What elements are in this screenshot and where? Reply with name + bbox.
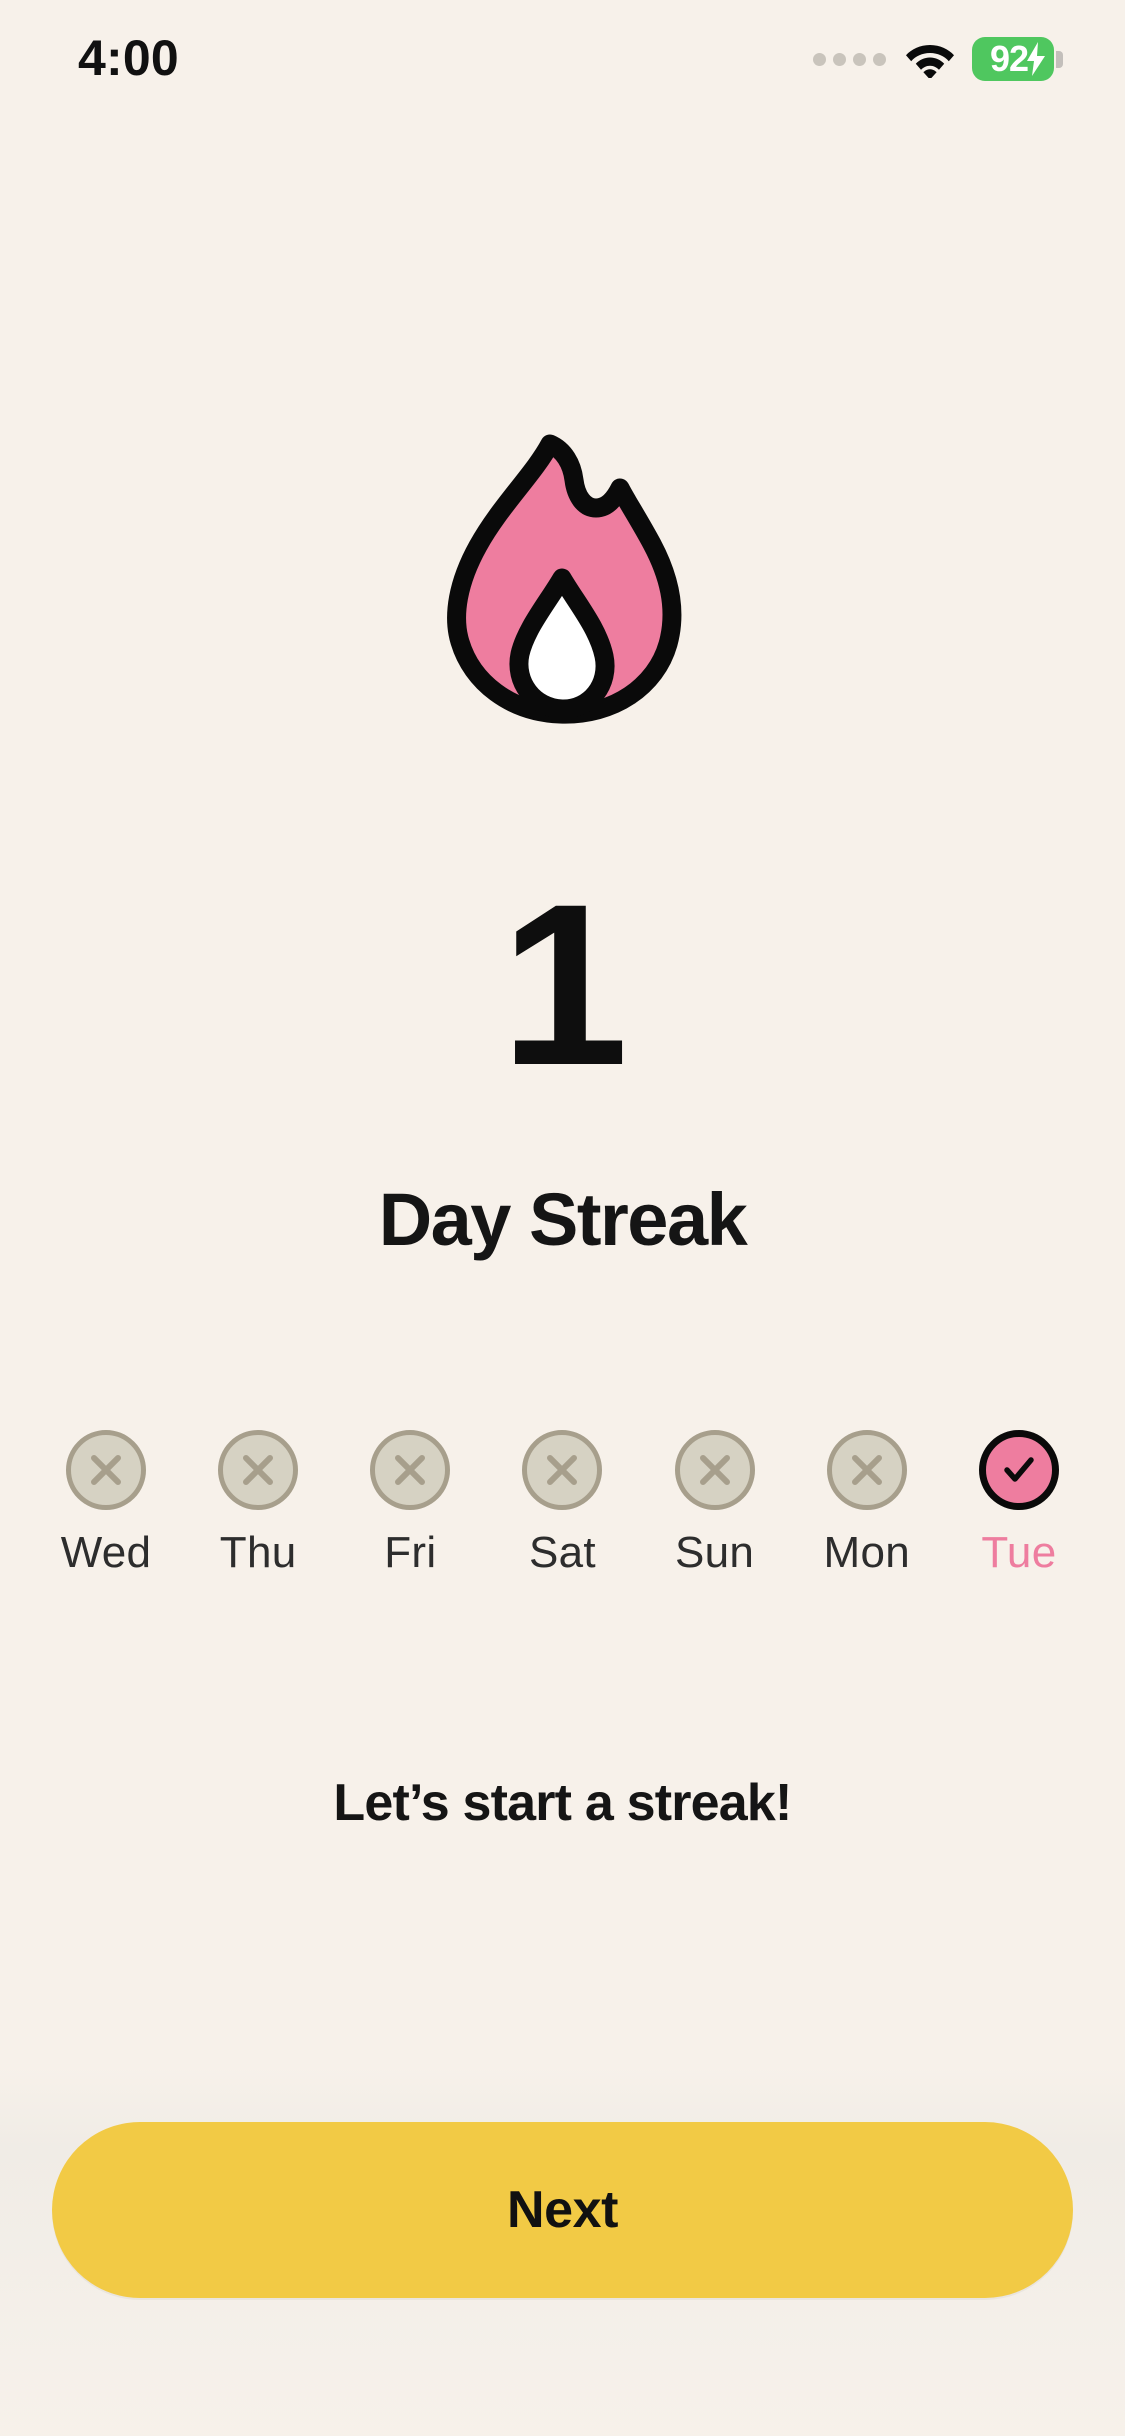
status-bar-indicators: 92	[813, 37, 1063, 81]
x-icon	[239, 1451, 277, 1489]
app-screen: 4:00 92	[0, 0, 1125, 2436]
battery-charging-icon: 92	[972, 37, 1063, 81]
streak-label: Day Streak	[0, 1183, 1125, 1257]
flame-illustration	[0, 430, 1125, 730]
charging-bolt-icon	[1025, 42, 1047, 76]
x-icon	[696, 1451, 734, 1489]
day-status-circle-fri[interactable]	[370, 1430, 450, 1510]
x-icon	[543, 1451, 581, 1489]
streak-message: Let’s start a streak!	[0, 1770, 1125, 1838]
day-cell-fri[interactable]: Fri	[356, 1430, 464, 1575]
status-bar-time: 4:00	[78, 33, 179, 83]
day-cell-thu[interactable]: Thu	[204, 1430, 312, 1575]
week-streak-row: Wed Thu Fri Sat	[52, 1430, 1073, 1575]
x-icon	[87, 1451, 125, 1489]
wifi-icon	[905, 40, 955, 78]
day-status-circle-sat[interactable]	[522, 1430, 602, 1510]
day-status-circle-sun[interactable]	[675, 1430, 755, 1510]
x-icon	[848, 1451, 886, 1489]
day-status-circle-mon[interactable]	[827, 1430, 907, 1510]
day-status-circle-tue[interactable]	[979, 1430, 1059, 1510]
day-cell-sat[interactable]: Sat	[508, 1430, 616, 1575]
flame-icon	[438, 430, 688, 730]
day-cell-tue[interactable]: Tue	[965, 1430, 1073, 1575]
day-label-tue: Tue	[981, 1531, 1056, 1575]
battery-percent-label: 92	[990, 41, 1028, 77]
day-cell-mon[interactable]: Mon	[813, 1430, 921, 1575]
x-icon	[391, 1451, 429, 1489]
day-label-sat: Sat	[529, 1531, 596, 1575]
streak-count: 1	[0, 870, 1125, 1100]
day-label-mon: Mon	[824, 1531, 911, 1575]
day-cell-sun[interactable]: Sun	[661, 1430, 769, 1575]
day-label-thu: Thu	[220, 1531, 297, 1575]
status-bar: 4:00 92	[0, 0, 1125, 110]
day-status-circle-wed[interactable]	[66, 1430, 146, 1510]
signal-dots-icon	[813, 53, 886, 66]
day-cell-wed[interactable]: Wed	[52, 1430, 160, 1575]
check-icon	[998, 1449, 1040, 1491]
day-status-circle-thu[interactable]	[218, 1430, 298, 1510]
day-label-wed: Wed	[61, 1531, 152, 1575]
day-label-fri: Fri	[384, 1531, 436, 1575]
next-button[interactable]: Next	[52, 2122, 1073, 2298]
day-label-sun: Sun	[675, 1531, 754, 1575]
